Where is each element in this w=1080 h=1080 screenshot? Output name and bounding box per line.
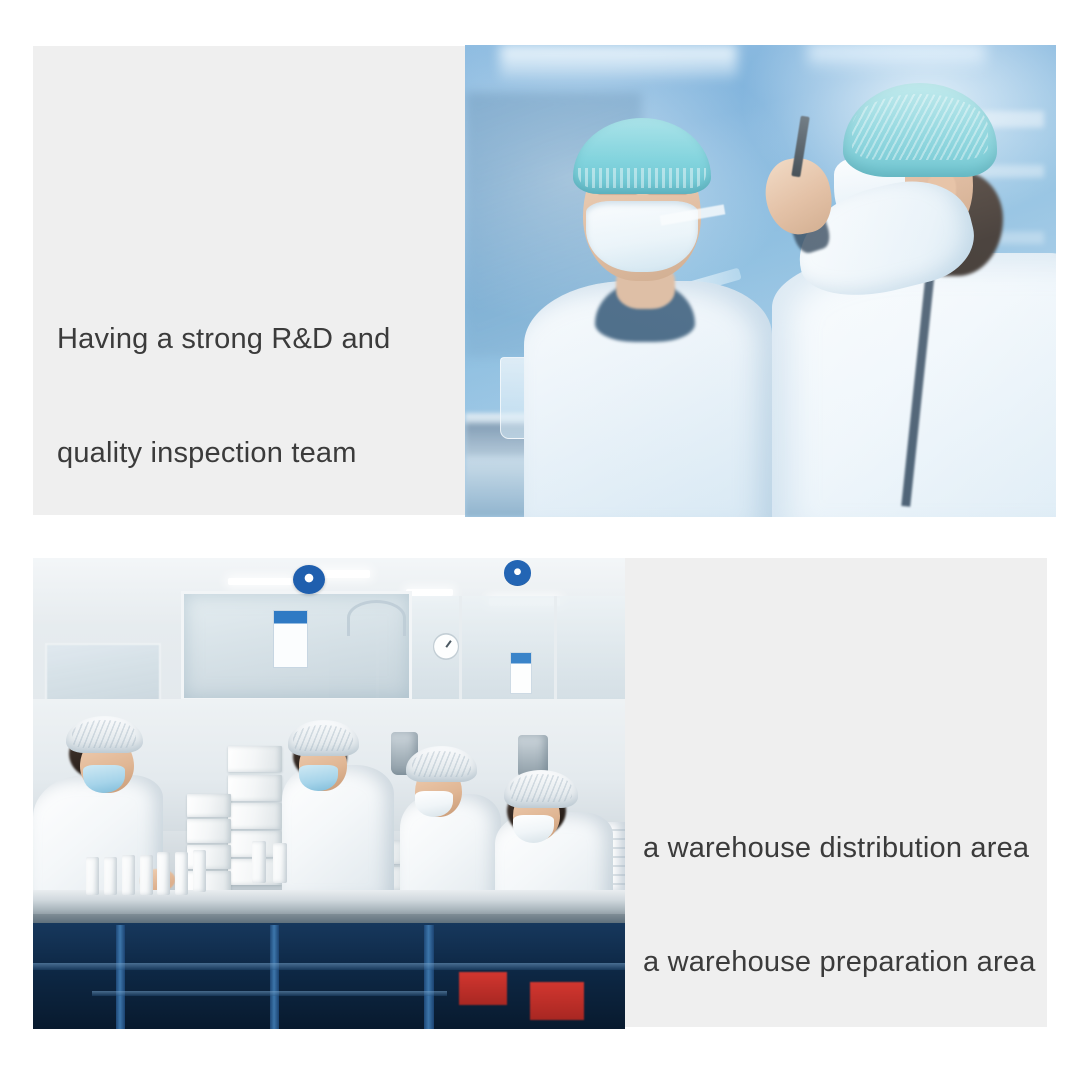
table-lower-beam [92,991,447,996]
table-leg-1 [116,925,125,1029]
product-carton-5 [157,852,170,894]
wall-notice-board-left [273,610,308,669]
product-bottle-1 [252,841,266,883]
rd-caption-line-2: quality inspection team [57,434,457,472]
rd-caption-line-1: Having a strong R&D and [57,320,457,358]
lab-ceiling-light-secondary [808,45,985,69]
partition-mullion-2 [459,596,462,700]
box-stack-a2 [228,775,281,801]
red-bin-2 [530,982,583,1020]
warehouse-caption-line-1: a warehouse distribution area [643,829,1043,867]
warehouse-caption: a warehouse distribution area a warehous… [643,753,1043,1057]
page-root: Having a strong R&D and quality inspecti… [0,0,1080,1080]
ceiling-duct [347,600,406,636]
warehouse-photo [33,558,625,1029]
worker-2-hairnet [288,720,359,755]
box-stack-a1 [228,746,281,772]
product-carton-2 [104,857,117,895]
table-leg-3 [424,925,435,1029]
partition-mullion-3 [554,596,557,700]
ceiling-light-1 [228,578,293,586]
product-carton-4 [140,855,153,895]
product-carton-3 [122,855,135,895]
wall-notice-board-right [510,652,532,694]
lab-ceiling-light [500,45,736,78]
product-carton-7 [193,850,206,892]
product-carton-6 [175,852,188,894]
table-cross-beam [33,963,625,970]
table-leg-2 [270,925,279,1029]
box-stack-b2 [187,819,231,843]
red-bin-1 [459,972,506,1005]
warehouse-caption-line-2: a warehouse preparation area [643,943,1043,981]
ceiling-light-2 [317,570,370,578]
blue-circular-sign-right [504,560,531,585]
rd-quality-caption: Having a strong R&D and quality inspecti… [57,244,457,548]
rd-quality-photo [465,45,1056,517]
box-stack-b1 [187,794,231,818]
product-bottle-2 [273,843,287,883]
box-stack-a3 [228,803,281,829]
wall-clock [433,633,459,659]
product-carton-1 [86,857,99,895]
